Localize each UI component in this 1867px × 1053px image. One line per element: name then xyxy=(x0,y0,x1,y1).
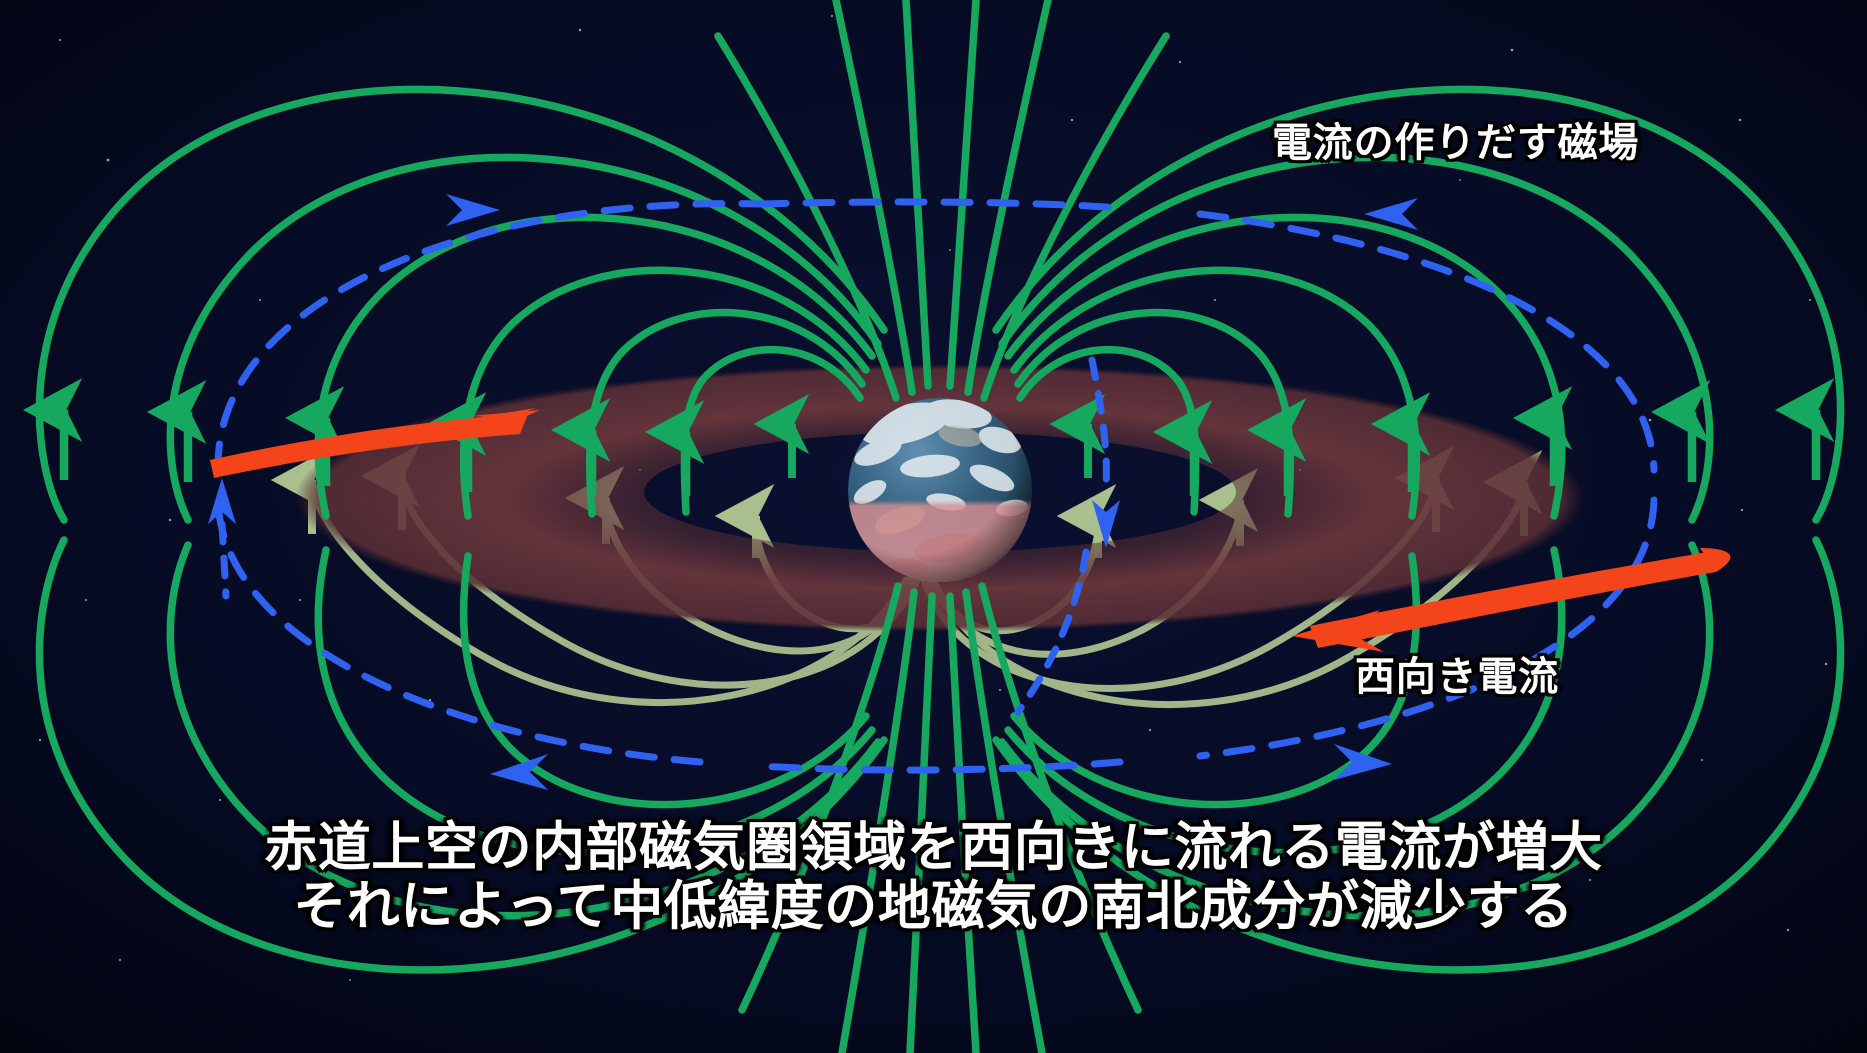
caption-block: 赤道上空の内部磁気圏領域を西向きに流れる電流が増大 それによって中低緯度の地磁気… xyxy=(0,818,1867,937)
diagram-canvas: 電流の作りだす磁場 西向き電流 赤道上空の内部磁気圏領域を西向きに流れる電流が増… xyxy=(0,0,1867,1053)
left-current-arrow xyxy=(210,408,540,478)
caption-line-2: それによって中低緯度の地磁気の南北成分が減少する xyxy=(0,877,1867,936)
label-westward-current: 西向き電流 xyxy=(1355,644,1559,702)
caption-line-1: 赤道上空の内部磁気圏領域を西向きに流れる電流が増大 xyxy=(0,818,1867,877)
right-current-arrow xyxy=(1292,548,1730,652)
label-magnetic-field: 電流の作りだす磁場 xyxy=(1272,110,1639,168)
